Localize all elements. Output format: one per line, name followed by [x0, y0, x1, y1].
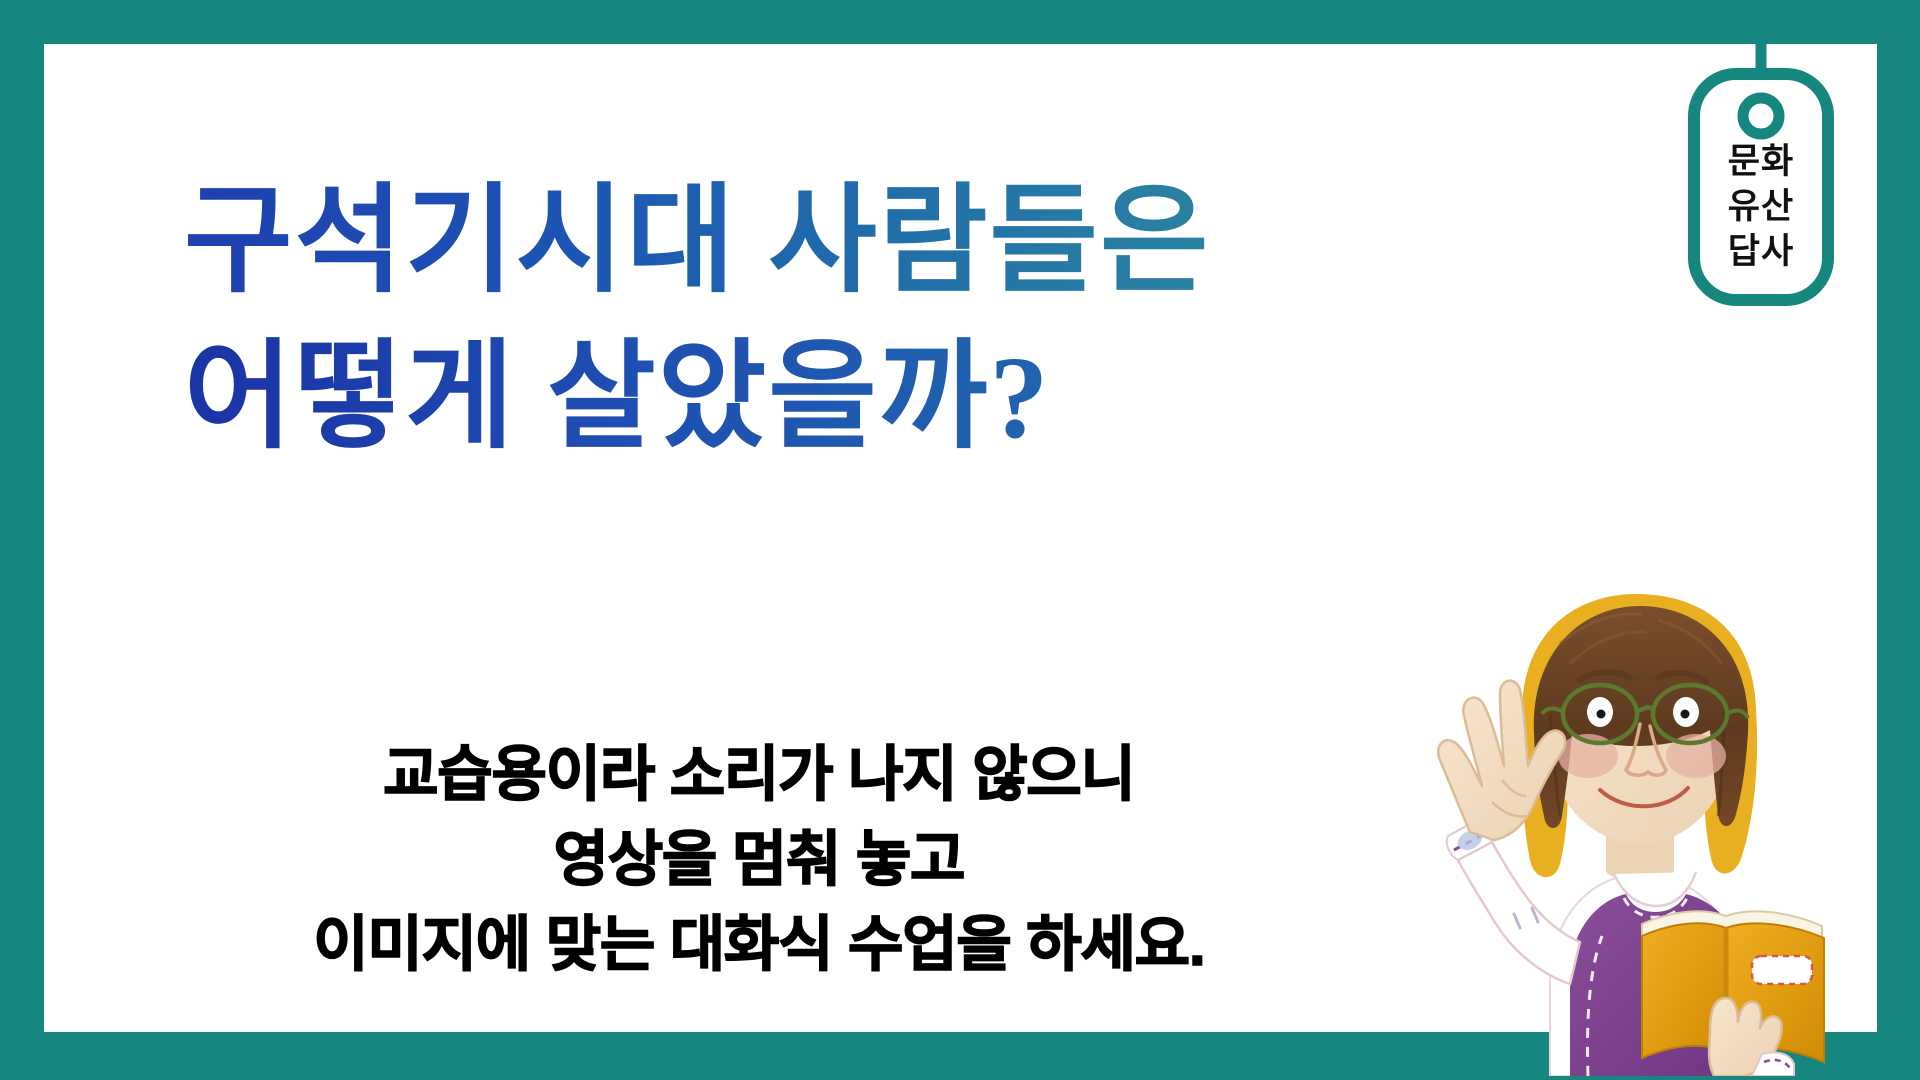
badge-word-3: 답사 — [1676, 230, 1846, 275]
arm-left-sleeve — [1458, 842, 1580, 984]
instruction-text: 교습용이라 소리가 나지 않으니 영상을 멈춰 놓고 이미지에 맞는 대화식 수… — [194, 732, 1324, 988]
status-badge: 문화 유산 답사 — [1676, 44, 1846, 314]
instruction-line-2: 영상을 멈춰 놓고 — [194, 817, 1324, 902]
title-line-2: 어떻게 살았을까? — [184, 320, 1364, 476]
badge-word-2: 유산 — [1676, 185, 1846, 230]
badge-text-stack: 문화 유산 답사 — [1676, 140, 1846, 274]
teacher-illustration-svg — [1374, 584, 1920, 1076]
title-line-1: 구석기시대 사람들은 — [184, 164, 1364, 320]
instruction-line-1: 교습용이라 소리가 나지 않으니 — [194, 732, 1324, 817]
badge-word-1: 문화 — [1676, 140, 1846, 185]
teacher-with-book-illustration — [1374, 584, 1920, 1076]
slide-white-panel: 구석기시대 사람들은 어떻게 살았을까? 교습용이라 소리가 나지 않으니 영상… — [44, 44, 1877, 1032]
instruction-line-3: 이미지에 맞는 대화식 수업을 하세요. — [194, 902, 1324, 987]
page-title: 구석기시대 사람들은 어떻게 살았을까? — [184, 164, 1364, 476]
tag-hole — [1743, 98, 1779, 134]
book-label — [1752, 956, 1812, 984]
pupil-right — [1681, 710, 1690, 719]
slide-root: 구석기시대 사람들은 어떻게 살았을까? 교습용이라 소리가 나지 않으니 영상… — [0, 0, 1920, 1080]
pupil-left — [1597, 710, 1606, 719]
